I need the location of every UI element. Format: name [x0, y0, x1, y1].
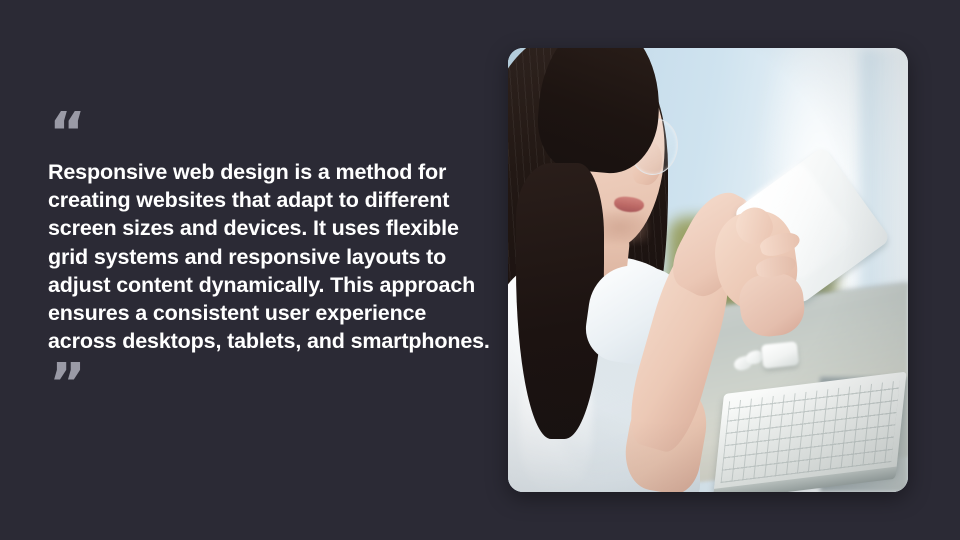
opening-quote-icon: “: [49, 112, 518, 152]
quote-text: Responsive web design is a method for cr…: [48, 158, 500, 355]
quote-slide: “ Responsive web design is a method for …: [0, 0, 960, 540]
quote-block: “ Responsive web design is a method for …: [48, 112, 518, 403]
photo-earbud-case: [761, 341, 799, 369]
photo-woman-with-tablet: [508, 48, 908, 492]
closing-quote-icon: ”: [49, 363, 518, 403]
photo-panel: [508, 48, 908, 492]
